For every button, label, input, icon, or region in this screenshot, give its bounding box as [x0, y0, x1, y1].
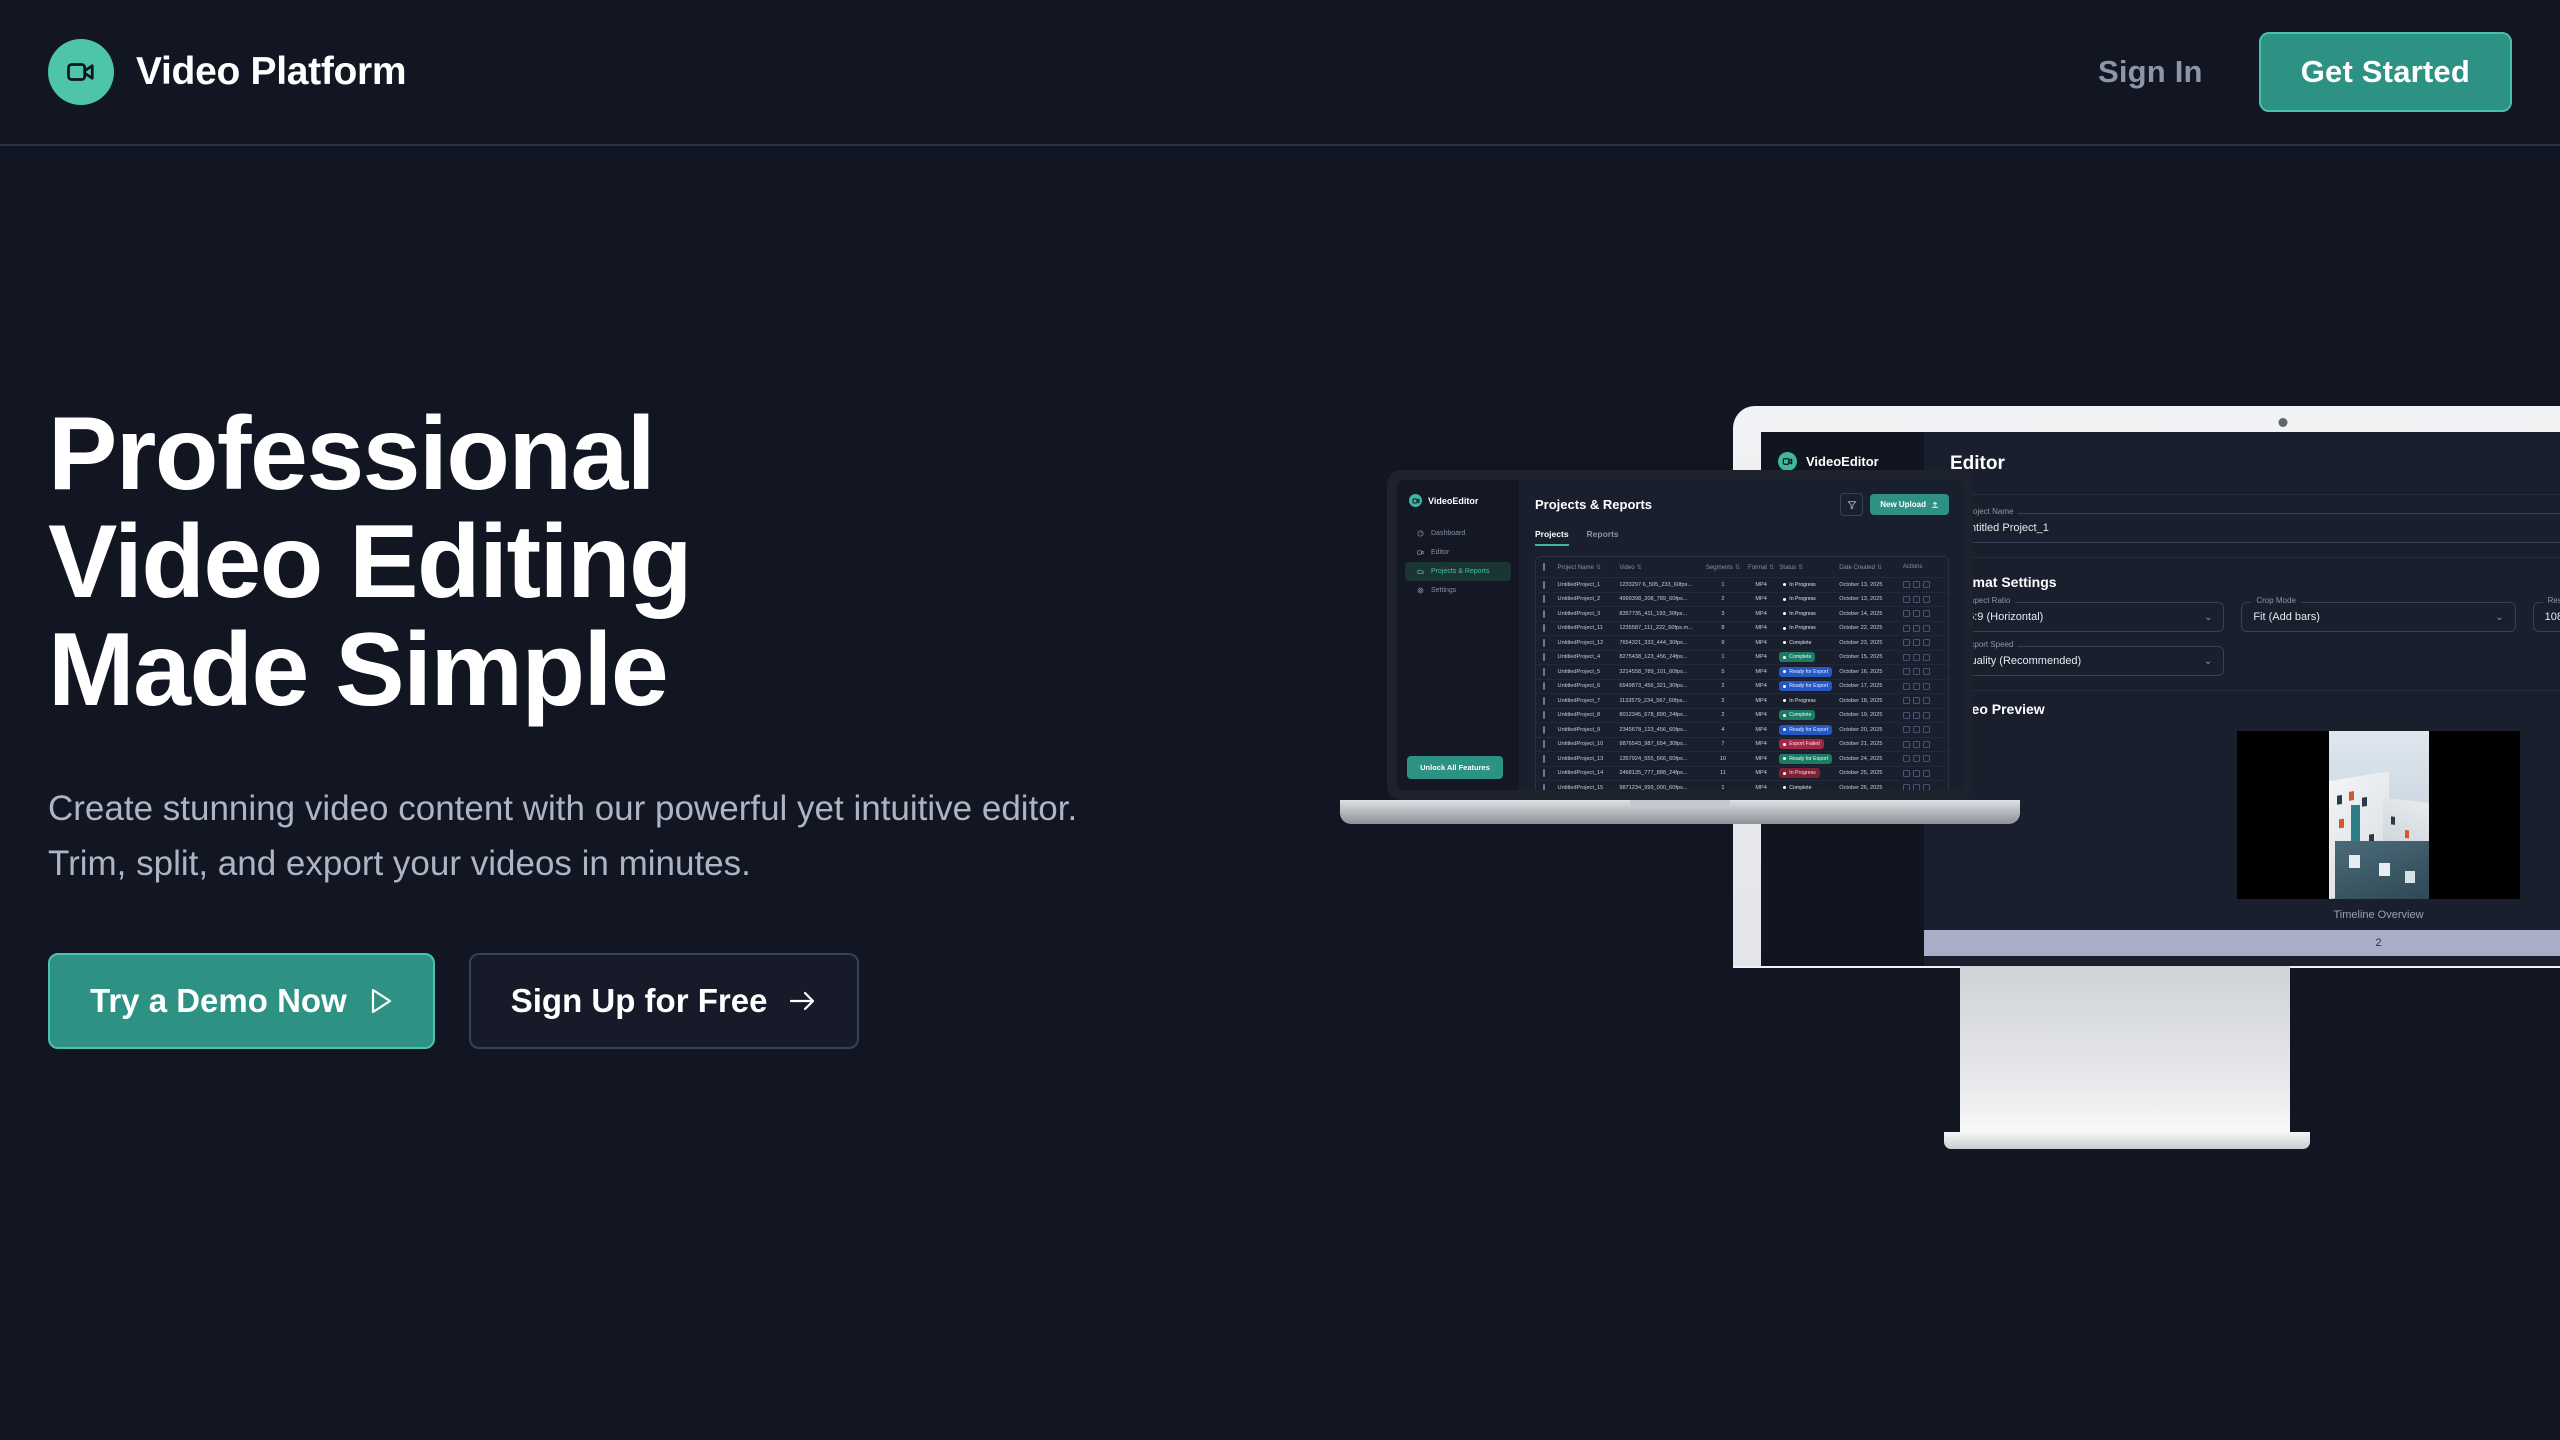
- cell-format: MP4: [1743, 770, 1779, 776]
- cell-date-created: October 22, 2025: [1839, 625, 1903, 631]
- download-icon[interactable]: [1913, 770, 1920, 777]
- sidebar-item-projects-reports[interactable]: Projects & Reports: [1405, 562, 1511, 581]
- sort-icon: ⇅: [1769, 564, 1774, 571]
- table-row[interactable]: UntitledProject_11233297 6_505_233_60fps…: [1536, 577, 1948, 592]
- laptop-screen: VideoEditor Dashboard Editor: [1397, 480, 1963, 790]
- cell-actions[interactable]: [1903, 668, 1941, 675]
- download-icon[interactable]: [1913, 668, 1920, 675]
- row-checkbox[interactable]: [1543, 625, 1558, 631]
- cell-date-created: October 23, 2025: [1839, 640, 1903, 646]
- row-checkbox[interactable]: [1543, 712, 1558, 718]
- row-checkbox[interactable]: [1543, 785, 1558, 790]
- download-icon[interactable]: [1913, 581, 1920, 588]
- cell-format: MP4: [1743, 611, 1779, 617]
- new-upload-label: New Upload: [1880, 500, 1926, 509]
- cell-project-name: UntitledProject_13: [1558, 756, 1620, 762]
- trash-icon[interactable]: [1923, 726, 1930, 733]
- cell-actions[interactable]: [1903, 581, 1941, 588]
- laptop-notch: [1641, 470, 1719, 479]
- download-icon[interactable]: [1913, 755, 1920, 762]
- cell-status: In Progress: [1779, 594, 1839, 604]
- landing-page: Video Platform Sign In Get Started Profe…: [0, 0, 2560, 1440]
- cell-status: Complete: [1779, 783, 1839, 790]
- cell-video: 8357735_411_193_30fps...: [1619, 611, 1703, 617]
- cell-video: 2468135_777_888_24fps...: [1619, 770, 1703, 776]
- cell-status: Export Failed: [1779, 739, 1839, 749]
- cell-date-created: October 26, 2025: [1839, 785, 1903, 790]
- cell-segments: 4: [1703, 727, 1743, 733]
- cell-status: Ready for Export: [1779, 667, 1839, 677]
- edit-icon[interactable]: [1903, 625, 1910, 632]
- timeline-value: 2: [2375, 937, 2381, 949]
- try-demo-button[interactable]: Try a Demo Now: [48, 953, 435, 1049]
- video-camera-icon: [1417, 549, 1424, 556]
- field-label: Crop Mode: [2251, 596, 2301, 605]
- chevron-down-icon: ⌄: [2204, 656, 2212, 667]
- cell-project-name: UntitledProject_14: [1558, 770, 1620, 776]
- field-value: Fit (Add bars): [2253, 611, 2320, 623]
- table-row[interactable]: UntitledProject_142468135_777_888_24fps.…: [1536, 766, 1948, 781]
- laptop-mockup: VideoEditor Dashboard Editor: [1340, 470, 2020, 850]
- trash-icon[interactable]: [1923, 581, 1930, 588]
- edit-icon[interactable]: [1903, 697, 1910, 704]
- cell-project-name: UntitledProject_6: [1558, 683, 1620, 689]
- site-header: Video Platform Sign In Get Started: [0, 0, 2560, 146]
- cell-segments: 5: [1703, 669, 1743, 675]
- sort-icon: ⇅: [1798, 564, 1803, 571]
- upload-icon: [1931, 501, 1939, 509]
- download-icon[interactable]: [1913, 610, 1920, 617]
- cell-format: MP4: [1743, 625, 1779, 631]
- cell-format: MP4: [1743, 669, 1779, 675]
- sort-icon: ⇅: [1637, 564, 1642, 571]
- edit-icon[interactable]: [1903, 712, 1910, 719]
- cell-date-created: October 18, 2025: [1839, 698, 1903, 704]
- table-row[interactable]: UntitledProject_92345678_123_456_60fps..…: [1536, 722, 1948, 737]
- cell-segments: 1: [1703, 654, 1743, 660]
- col-actions: Actions: [1903, 564, 1941, 570]
- laptop-lid: VideoEditor Dashboard Editor: [1387, 470, 1973, 800]
- cell-video: 4999398_208_789_60fps...: [1619, 596, 1703, 602]
- cell-format: MP4: [1743, 741, 1779, 747]
- cell-date-created: October 25, 2025: [1839, 770, 1903, 776]
- field-label: Resolution: [2543, 596, 2560, 605]
- sign-up-label: Sign Up for Free: [511, 982, 768, 1020]
- resolution-select[interactable]: Resolution 1080p (1920x1080) ⌄: [2533, 602, 2560, 632]
- edit-icon[interactable]: [1903, 784, 1910, 790]
- table-row[interactable]: UntitledProject_71133579_234_567_60fps..…: [1536, 693, 1948, 708]
- gauge-icon: [1417, 530, 1424, 537]
- preview-image: [2329, 731, 2429, 899]
- table-row[interactable]: UntitledProject_127654321_333_444_30fps.…: [1536, 635, 1948, 650]
- cell-project-name: UntitledProject_3: [1558, 611, 1620, 617]
- cell-status: Ready for Export: [1779, 681, 1839, 691]
- header-actions: Sign In Get Started: [2098, 32, 2512, 112]
- select-all-checkbox[interactable]: [1543, 564, 1558, 570]
- cell-segments: 2: [1703, 683, 1743, 689]
- cell-project-name: UntitledProject_7: [1558, 698, 1620, 704]
- cell-project-name: UntitledProject_12: [1558, 640, 1620, 646]
- field-value: 1080p (1920x1080): [2545, 611, 2560, 623]
- timeline-overview-label: Timeline Overview: [1924, 909, 2560, 921]
- cell-video: 9876543_987_654_30fps...: [1619, 741, 1703, 747]
- tab-projects[interactable]: Projects: [1535, 529, 1569, 546]
- cell-actions[interactable]: [1903, 770, 1941, 777]
- trash-icon[interactable]: [1923, 683, 1930, 690]
- cell-status: In Progress: [1779, 696, 1839, 706]
- cell-video: 1133579_234_567_60fps...: [1619, 698, 1703, 704]
- sidebar-label: Editor: [1431, 549, 1449, 556]
- cell-status: In Progress: [1779, 623, 1839, 633]
- cell-actions[interactable]: [1903, 726, 1941, 733]
- cell-format: MP4: [1743, 785, 1779, 790]
- tab-reports[interactable]: Reports: [1587, 529, 1619, 546]
- timeline-bar[interactable]: 2: [1924, 930, 2560, 956]
- cell-format: MP4: [1743, 582, 1779, 588]
- cell-segments: 7: [1703, 741, 1743, 747]
- cell-date-created: October 13, 2025: [1839, 582, 1903, 588]
- table-row[interactable]: UntitledProject_53214558_789_101_60fps..…: [1536, 664, 1948, 679]
- projects-table: Project Name⇅ Video⇅ Segments⇅ Format⇅ S…: [1535, 556, 1949, 790]
- download-icon[interactable]: [1913, 654, 1920, 661]
- cell-date-created: October 15, 2025: [1839, 654, 1903, 660]
- laptop-main: Projects & Reports New Upload: [1519, 480, 1963, 790]
- row-checkbox[interactable]: [1543, 654, 1558, 660]
- table-row[interactable]: UntitledProject_66549873_456_321_30fps..…: [1536, 679, 1948, 694]
- cell-status: Complete: [1779, 710, 1839, 720]
- edit-icon[interactable]: [1903, 726, 1910, 733]
- row-checkbox[interactable]: [1543, 770, 1558, 776]
- edit-icon[interactable]: [1903, 755, 1910, 762]
- cell-actions[interactable]: [1903, 784, 1941, 790]
- cell-date-created: October 21, 2025: [1839, 741, 1903, 747]
- download-icon[interactable]: [1913, 726, 1920, 733]
- editor-brand-name: VideoEditor: [1806, 454, 1879, 469]
- laptop-brand: VideoEditor: [1397, 480, 1519, 507]
- divider: [1950, 494, 2560, 495]
- play-triangle-icon: [369, 988, 393, 1014]
- cell-date-created: October 13, 2025: [1839, 596, 1903, 602]
- cell-video: 8012345_678_890_24fps...: [1619, 712, 1703, 718]
- edit-icon[interactable]: [1903, 639, 1910, 646]
- row-checkbox[interactable]: [1543, 640, 1558, 646]
- row-checkbox[interactable]: [1543, 683, 1558, 689]
- cell-segments: 3: [1703, 611, 1743, 617]
- table-head: Project Name⇅ Video⇅ Segments⇅ Format⇅ S…: [1536, 557, 1948, 577]
- cell-actions[interactable]: [1903, 741, 1941, 748]
- download-icon[interactable]: [1913, 697, 1920, 704]
- cell-video: 1357924_555_666_60fps...: [1619, 756, 1703, 762]
- cell-project-name: UntitledProject_15: [1558, 785, 1620, 790]
- laptop-header-actions: New Upload: [1840, 493, 1949, 516]
- laptop-base-notch: [1630, 800, 1730, 807]
- row-checkbox[interactable]: [1543, 669, 1558, 675]
- cell-date-created: October 17, 2025: [1839, 683, 1903, 689]
- col-format[interactable]: Format⇅: [1743, 564, 1779, 571]
- sidebar-label: Dashboard: [1431, 530, 1465, 537]
- row-checkbox[interactable]: [1543, 698, 1558, 704]
- cell-date-created: October 19, 2025: [1839, 712, 1903, 718]
- cell-actions[interactable]: [1903, 596, 1941, 603]
- trash-icon[interactable]: [1923, 639, 1930, 646]
- cell-actions[interactable]: [1903, 683, 1941, 690]
- download-icon[interactable]: [1913, 625, 1920, 632]
- sidebar-item-settings[interactable]: Settings: [1405, 581, 1511, 600]
- sidebar-label: Settings: [1431, 587, 1456, 594]
- table-row[interactable]: UntitledProject_159871234_999_000_60fps.…: [1536, 780, 1948, 790]
- edit-icon[interactable]: [1903, 596, 1910, 603]
- col-date-created[interactable]: Date Created⇅: [1839, 564, 1903, 571]
- trash-icon[interactable]: [1923, 625, 1930, 632]
- cell-date-created: October 16, 2025: [1839, 669, 1903, 675]
- cell-segments: 1: [1703, 582, 1743, 588]
- filter-funnel-icon[interactable]: [1840, 493, 1863, 516]
- sidebar-label: Projects & Reports: [1431, 568, 1489, 575]
- divider: [1950, 690, 2560, 691]
- trash-icon[interactable]: [1923, 697, 1930, 704]
- cell-segments: 9: [1703, 640, 1743, 646]
- cell-video: 9871234_999_000_60fps...: [1619, 785, 1703, 790]
- cell-status: In Progress: [1779, 609, 1839, 619]
- trash-icon[interactable]: [1923, 712, 1930, 719]
- cell-format: MP4: [1743, 756, 1779, 762]
- download-icon[interactable]: [1913, 712, 1920, 719]
- cell-date-created: October 14, 2025: [1839, 611, 1903, 617]
- hero-subtitle: Create stunning video content with our p…: [48, 782, 1108, 891]
- cell-segments: 1: [1703, 785, 1743, 790]
- row-checkbox[interactable]: [1543, 741, 1558, 747]
- trash-icon[interactable]: [1923, 596, 1930, 603]
- sign-up-button[interactable]: Sign Up for Free: [469, 953, 860, 1049]
- edit-icon[interactable]: [1903, 741, 1910, 748]
- cell-project-name: UntitledProject_5: [1558, 669, 1620, 675]
- table-row[interactable]: UntitledProject_48275438_123_456_24fps..…: [1536, 650, 1948, 665]
- cell-project-name: UntitledProject_4: [1558, 654, 1620, 660]
- row-checkbox[interactable]: [1543, 611, 1558, 617]
- cell-format: MP4: [1743, 596, 1779, 602]
- cell-actions[interactable]: [1903, 697, 1941, 704]
- cell-actions[interactable]: [1903, 654, 1941, 661]
- cell-video: 6549873_456_321_30fps...: [1619, 683, 1703, 689]
- row-checkbox[interactable]: [1543, 727, 1558, 733]
- sidebar-item-editor[interactable]: Editor: [1405, 543, 1511, 562]
- trash-icon[interactable]: [1923, 741, 1930, 748]
- cell-format: MP4: [1743, 727, 1779, 733]
- download-icon[interactable]: [1913, 784, 1920, 790]
- edit-icon[interactable]: [1903, 683, 1910, 690]
- cell-project-name: UntitledProject_9: [1558, 727, 1620, 733]
- editor-brand: VideoEditor: [1761, 432, 1924, 471]
- laptop-tabs: Projects Reports: [1535, 529, 1949, 546]
- cell-status: Ready for Export: [1779, 754, 1839, 764]
- page-title: Professional Video Editing Made Simple: [48, 400, 1098, 724]
- cell-format: MP4: [1743, 640, 1779, 646]
- laptop-base: [1340, 800, 2020, 824]
- cell-video: 8275438_123_456_24fps...: [1619, 654, 1703, 660]
- building-foreground: [2335, 841, 2429, 899]
- cell-video: 3214558_789_101_60fps...: [1619, 669, 1703, 675]
- cell-actions[interactable]: [1903, 755, 1941, 762]
- cell-project-name: UntitledProject_2: [1558, 596, 1620, 602]
- cell-status: Ready for Export: [1779, 725, 1839, 735]
- monitor-stand-neck: [1960, 966, 2290, 1141]
- table-row[interactable]: UntitledProject_131357924_555_666_60fps.…: [1536, 751, 1948, 766]
- table-row[interactable]: UntitledProject_38357735_411_193_30fps..…: [1536, 606, 1948, 621]
- col-segments[interactable]: Segments⇅: [1703, 564, 1743, 571]
- table-row[interactable]: UntitledProject_88012345_678_890_24fps..…: [1536, 708, 1948, 723]
- cell-segments: 2: [1703, 712, 1743, 718]
- table-row[interactable]: UntitledProject_24999398_208_789_60fps..…: [1536, 592, 1948, 607]
- sort-icon: ⇅: [1596, 564, 1601, 571]
- video-camera-icon: [1409, 494, 1422, 507]
- format-settings-title: Format Settings: [1950, 574, 2560, 590]
- chevron-down-icon: ⌄: [2204, 612, 2212, 623]
- monitor-stand-foot: [1944, 1132, 2310, 1149]
- new-upload-button[interactable]: New Upload: [1870, 494, 1949, 515]
- cell-project-name: UntitledProject_8: [1558, 712, 1620, 718]
- cell-date-created: October 20, 2025: [1839, 727, 1903, 733]
- cell-project-name: UntitledProject_1: [1558, 582, 1620, 588]
- cell-status: Complete: [1779, 652, 1839, 662]
- cell-format: MP4: [1743, 654, 1779, 660]
- col-status[interactable]: Status⇅: [1779, 564, 1839, 571]
- laptop-sidebar: VideoEditor Dashboard Editor: [1397, 480, 1519, 790]
- get-started-button[interactable]: Get Started: [2259, 32, 2512, 112]
- trash-icon[interactable]: [1923, 784, 1930, 790]
- crop-mode-select[interactable]: Crop Mode Fit (Add bars) ⌄: [2241, 602, 2515, 632]
- table-header-row: Project Name⇅ Video⇅ Segments⇅ Format⇅ S…: [1536, 557, 1948, 577]
- brand-logo-group[interactable]: Video Platform: [48, 39, 406, 105]
- cell-format: MP4: [1743, 683, 1779, 689]
- col-project-name[interactable]: Project Name⇅: [1558, 564, 1620, 571]
- folder-icon: [1417, 568, 1424, 575]
- cell-status: In Progress: [1779, 768, 1839, 778]
- table-row[interactable]: UntitledProject_111235587_111_222_60fps.…: [1536, 621, 1948, 636]
- cell-status: Complete: [1779, 638, 1839, 648]
- download-icon[interactable]: [1913, 596, 1920, 603]
- sidebar-item-dashboard[interactable]: Dashboard: [1405, 524, 1511, 543]
- row-checkbox[interactable]: [1543, 596, 1558, 602]
- cell-segments: 10: [1703, 756, 1743, 762]
- trash-icon[interactable]: [1923, 654, 1930, 661]
- cell-video: 2345678_123_456_60fps...: [1619, 727, 1703, 733]
- project-name-field[interactable]: Project Name Untitled Project_1: [1950, 513, 2560, 543]
- cell-segments: 2: [1703, 698, 1743, 704]
- cell-status: In Progress: [1779, 580, 1839, 590]
- cell-project-name: UntitledProject_11: [1558, 625, 1620, 631]
- cell-date-created: October 24, 2025: [1839, 756, 1903, 762]
- chevron-down-icon: ⌄: [2495, 612, 2503, 623]
- row-checkbox[interactable]: [1543, 582, 1558, 588]
- sort-icon: ⇅: [1735, 564, 1740, 571]
- download-icon[interactable]: [1913, 639, 1920, 646]
- webcam-icon: [2279, 418, 2288, 427]
- video-camera-icon: [48, 39, 114, 105]
- arrow-right-icon: [789, 990, 817, 1012]
- laptop-header: Projects & Reports New Upload: [1535, 493, 1949, 516]
- col-video[interactable]: Video⇅: [1619, 564, 1703, 571]
- edit-icon[interactable]: [1903, 654, 1910, 661]
- cell-actions[interactable]: [1903, 610, 1941, 617]
- cell-video: 7654321_333_444_30fps...: [1619, 640, 1703, 646]
- hero-cta-group: Try a Demo Now Sign Up for Free: [48, 953, 1098, 1049]
- sign-in-link[interactable]: Sign In: [2098, 54, 2203, 90]
- edit-icon[interactable]: [1903, 668, 1910, 675]
- edit-icon[interactable]: [1903, 610, 1910, 617]
- cell-project-name: UntitledProject_10: [1558, 741, 1620, 747]
- trash-icon[interactable]: [1923, 610, 1930, 617]
- trash-icon[interactable]: [1923, 668, 1930, 675]
- divider: [1950, 557, 2560, 558]
- unlock-all-features-button[interactable]: Unlock All Features: [1407, 756, 1503, 779]
- hero-section: Professional Video Editing Made Simple C…: [48, 400, 1098, 1049]
- video-camera-icon: [1778, 452, 1797, 471]
- download-icon[interactable]: [1913, 683, 1920, 690]
- cell-segments: 11: [1703, 770, 1743, 776]
- cell-format: MP4: [1743, 698, 1779, 704]
- download-icon[interactable]: [1913, 741, 1920, 748]
- laptop-page-title: Projects & Reports: [1535, 497, 1652, 512]
- trash-icon[interactable]: [1923, 755, 1930, 762]
- video-preview-stage: [2237, 731, 2520, 899]
- cell-segments: 2: [1703, 596, 1743, 602]
- sort-icon: ⇅: [1877, 564, 1882, 571]
- laptop-nav: Dashboard Editor Projects & Reports: [1397, 524, 1519, 600]
- brand-name: Video Platform: [136, 50, 406, 94]
- cell-segments: 8: [1703, 625, 1743, 631]
- table-body: UntitledProject_11233297 6_505_233_60fps…: [1536, 577, 1948, 790]
- cell-video: 1235587_111_222_60fps.m...: [1619, 625, 1703, 631]
- edit-icon[interactable]: [1903, 581, 1910, 588]
- device-mockup-stage: VideoEditor Dashboard Editor: [1340, 380, 2560, 1210]
- table-row[interactable]: UntitledProject_109876543_987_654_30fps.…: [1536, 737, 1948, 752]
- row-checkbox[interactable]: [1543, 756, 1558, 762]
- laptop-brand-name: VideoEditor: [1428, 496, 1478, 506]
- cell-format: MP4: [1743, 712, 1779, 718]
- gear-icon: [1417, 587, 1424, 594]
- cell-actions[interactable]: [1903, 625, 1941, 632]
- trash-icon[interactable]: [1923, 770, 1930, 777]
- try-demo-label: Try a Demo Now: [90, 982, 347, 1020]
- cell-actions[interactable]: [1903, 712, 1941, 719]
- cell-video: 1233297 6_505_233_60fps...: [1619, 582, 1703, 588]
- cell-actions[interactable]: [1903, 639, 1941, 646]
- edit-icon[interactable]: [1903, 770, 1910, 777]
